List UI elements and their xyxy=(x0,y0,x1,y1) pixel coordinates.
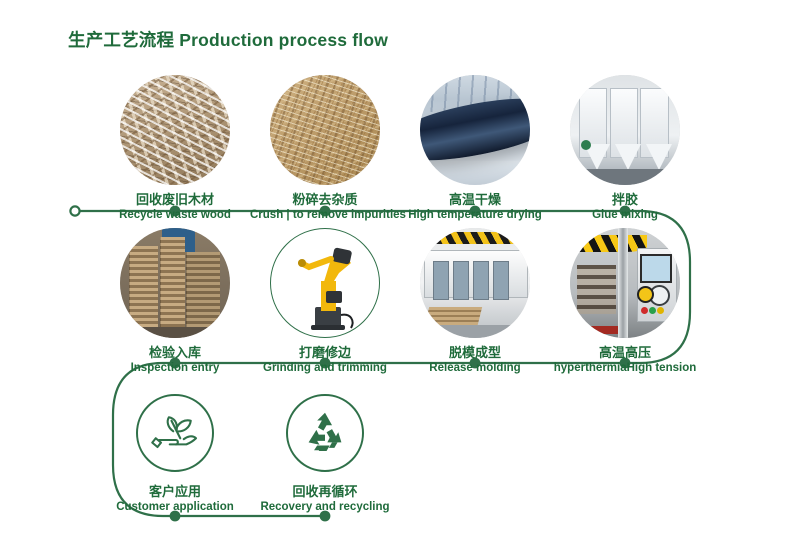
step-label-en: Grinding and trimming xyxy=(250,361,400,375)
step-label-en: Customer application xyxy=(100,500,250,514)
photo-scrap-wood xyxy=(120,75,230,185)
step-recycle-waste-wood[interactable]: 回收废旧木材 Recycle waste wood xyxy=(100,75,250,222)
step-inspection-entry[interactable]: 检验入库 Inspection entry xyxy=(100,228,250,375)
step-label-cn: 客户应用 xyxy=(100,484,250,500)
step-label-en: Release molding xyxy=(400,361,550,375)
step-label-cn: 脱模成型 xyxy=(400,345,550,361)
recycle-icon-circle xyxy=(286,394,364,472)
step-label-en: Recovery and recycling xyxy=(250,500,400,514)
step-customer-application[interactable]: 客户应用 Customer application xyxy=(100,394,250,514)
step-glue-mixing[interactable]: 拌胶 Glue mixing xyxy=(550,75,700,222)
step-recovery-and-recycling[interactable]: 回收再循环 Recovery and recycling xyxy=(250,394,400,514)
process-flow-canvas: 生产工艺流程 Production process flow 回收废旧木材 Re… xyxy=(0,0,804,533)
step-label-en: Inspection entry xyxy=(100,361,250,375)
hand-plant-icon xyxy=(147,405,203,461)
photo-robot-arm xyxy=(270,228,380,338)
step-label-cn: 打磨修边 xyxy=(250,345,400,361)
step-crush-remove-impurities[interactable]: 粉碎去杂质 Crush | to remove impurities xyxy=(250,75,400,222)
step-label-cn: 回收废旧木材 xyxy=(100,192,250,208)
step-label-cn: 粉碎去杂质 xyxy=(250,192,400,208)
flow-start-marker xyxy=(70,206,79,215)
recycle-icon xyxy=(300,408,350,458)
step-label-en: Glue mixing xyxy=(550,208,700,222)
hand-plant-icon-circle xyxy=(136,394,214,472)
photo-drying-drum xyxy=(420,75,530,185)
step-release-molding[interactable]: 脱模成型 Release molding xyxy=(400,228,550,375)
step-label-cn: 检验入库 xyxy=(100,345,250,361)
page-title: 生产工艺流程 Production process flow xyxy=(68,27,388,52)
step-label-cn: 高温高压 xyxy=(550,345,700,361)
photo-wood-chips xyxy=(270,75,380,185)
step-label-en: hyperthermiaHigh tension xyxy=(550,361,700,375)
photo-glue-mixer xyxy=(570,75,680,185)
step-label-en: Recycle waste wood xyxy=(100,208,250,222)
photo-pallet-stacks xyxy=(120,228,230,338)
photo-molding-line xyxy=(420,228,530,338)
step-grinding-and-trimming[interactable]: 打磨修边 Grinding and trimming xyxy=(250,228,400,375)
step-label-en: Crush | to remove impurities xyxy=(250,208,400,222)
step-label-cn: 拌胶 xyxy=(550,192,700,208)
photo-hot-press xyxy=(570,228,680,338)
robot-arm-icon xyxy=(271,229,380,338)
step-high-temperature-drying[interactable]: 高温干燥 High temperature drying xyxy=(400,75,550,222)
step-label-cn: 回收再循环 xyxy=(250,484,400,500)
step-label-en: High temperature drying xyxy=(400,208,550,222)
step-label-cn: 高温干燥 xyxy=(400,192,550,208)
step-hyperthermia-high-tension[interactable]: 高温高压 hyperthermiaHigh tension xyxy=(550,228,700,375)
